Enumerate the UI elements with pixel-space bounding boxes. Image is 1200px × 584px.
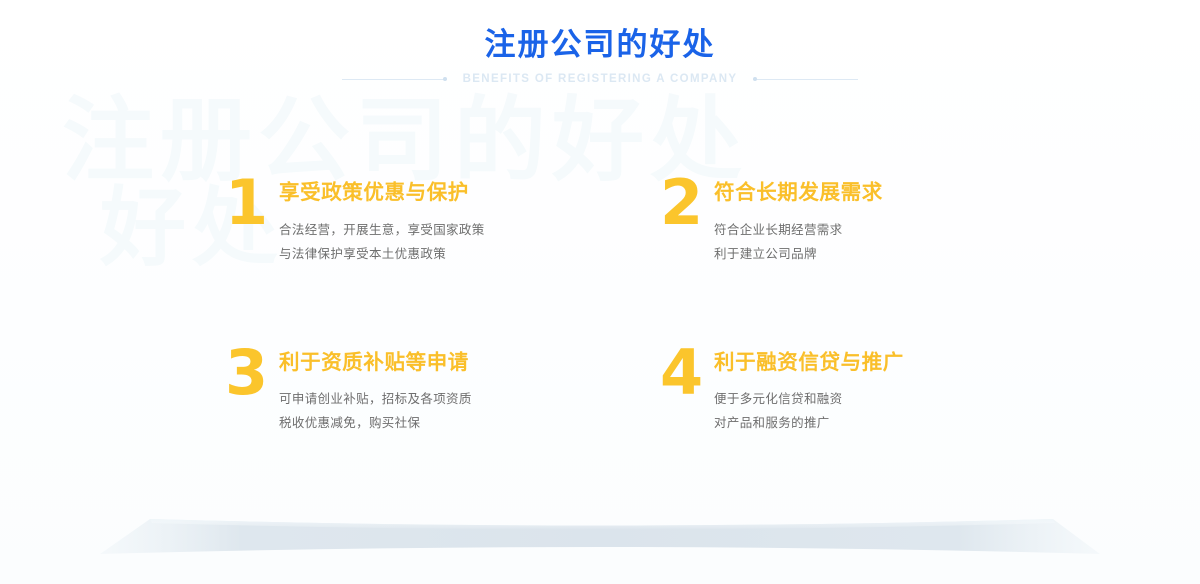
benefit-number-2: 2: [660, 178, 714, 229]
benefit-number-4: 4: [660, 348, 714, 399]
benefit-title-1: 享受政策优惠与保护: [279, 183, 485, 204]
benefit-number-3: 3: [225, 348, 279, 399]
benefit-body-2: 符合长期发展需求 符合企业长期经营需求 利于建立公司品牌: [714, 178, 883, 266]
benefits-grid: 1 享受政策优惠与保护 合法经营，开展生意，享受国家政策 与法律保护享受本土优惠…: [225, 178, 985, 435]
benefit-body-3: 利于资质补贴等申请 可申请创业补贴，招标及各项资质 税收优惠减免，购买社保: [279, 348, 472, 436]
benefit-item-2: 2 符合长期发展需求 符合企业长期经营需求 利于建立公司品牌: [660, 178, 985, 266]
benefit-body-1: 享受政策优惠与保护 合法经营，开展生意，享受国家政策 与法律保护享受本土优惠政策: [279, 178, 485, 266]
benefit-item-4: 4 利于融资信贷与推广 便于多元化信贷和融资 对产品和服务的推广: [660, 348, 985, 436]
benefit-title-2: 符合长期发展需求: [714, 183, 883, 204]
benefit-desc-1-line-1: 合法经营，开展生意，享受国家政策: [279, 218, 485, 242]
benefit-number-1: 1: [225, 178, 279, 229]
benefit-desc-3-line-1: 可申请创业补贴，招标及各项资质: [279, 387, 472, 411]
promo-banner: 注册公司的好处 好处 注册公司的好处 BENEFITS OF REGISTERI…: [0, 0, 1200, 584]
benefit-desc-4-line-2: 对产品和服务的推广: [714, 411, 904, 435]
decorative-line-left-icon: [342, 79, 447, 80]
benefit-item-1: 1 享受政策优惠与保护 合法经营，开展生意，享受国家政策 与法律保护享受本土优惠…: [225, 178, 660, 266]
benefit-desc-4-line-1: 便于多元化信贷和融资: [714, 387, 904, 411]
benefit-title-3: 利于资质补贴等申请: [279, 353, 472, 374]
benefit-desc-2-line-2: 利于建立公司品牌: [714, 242, 883, 266]
background-watermark-line-1: 注册公司的好处: [62, 96, 1122, 186]
benefit-body-4: 利于融资信贷与推广 便于多元化信贷和融资 对产品和服务的推广: [714, 348, 904, 436]
page-title: 注册公司的好处: [0, 29, 1200, 60]
subtitle-row: BENEFITS OF REGISTERING A COMPANY: [0, 73, 1200, 85]
banner-header: 注册公司的好处 BENEFITS OF REGISTERING A COMPAN…: [0, 0, 1200, 85]
benefit-desc-3-line-2: 税收优惠减免，购买社保: [279, 411, 472, 435]
benefit-item-3: 3 利于资质补贴等申请 可申请创业补贴，招标及各项资质 税收优惠减免，购买社保: [225, 348, 660, 436]
page-subtitle: BENEFITS OF REGISTERING A COMPANY: [463, 73, 738, 85]
decorative-line-right-icon: [753, 79, 858, 80]
benefit-desc-1-line-2: 与法律保护享受本土优惠政策: [279, 242, 485, 266]
benefit-desc-2-line-1: 符合企业长期经营需求: [714, 218, 883, 242]
benefit-title-4: 利于融资信贷与推广: [714, 353, 904, 374]
platform-decoration: [0, 494, 1200, 584]
